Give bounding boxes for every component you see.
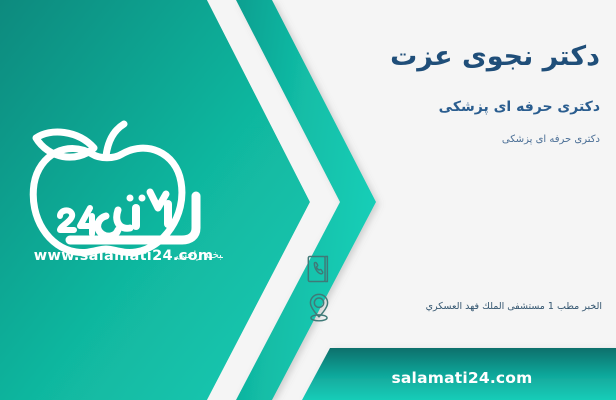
logo-website-url: www.salamati24.com [26, 248, 221, 264]
profile-content: دکتر نجوی عزت دکتری حرفه ای پزشکی دکتری … [286, 0, 616, 400]
footer-website-url[interactable]: salamati24.com [308, 369, 616, 387]
doctor-name: دکتر نجوی عزت [300, 40, 600, 74]
address-row[interactable]: الخبر مطب 1 مستشفى الملك فهد العسكري [302, 288, 602, 326]
logo-stroke-3 [117, 210, 130, 228]
logo-dot-2 [127, 195, 134, 202]
logo-24-badge [60, 208, 96, 234]
doctor-specialty-sub: دکتری حرفه ای پزشکی [300, 133, 600, 146]
logo-stroke-alef [150, 192, 166, 208]
location-pin-icon [302, 290, 336, 324]
doctor-profile-card: یک لبخند راحتی www.salamati24.com دکتر ن… [0, 0, 616, 400]
address-value: الخبر مطب 1 مستشفى الملك فهد العسكري [346, 300, 602, 313]
logo-dot-1 [139, 195, 146, 202]
apple-leaf [36, 132, 94, 157]
doctor-specialty-main: دکتری حرفه ای پزشکی [300, 98, 600, 116]
contact-list: الخبر مطب 1 مستشفى الملك فهد العسكري [302, 250, 602, 326]
phone-book-icon [302, 252, 336, 286]
phone-row[interactable] [302, 250, 602, 288]
